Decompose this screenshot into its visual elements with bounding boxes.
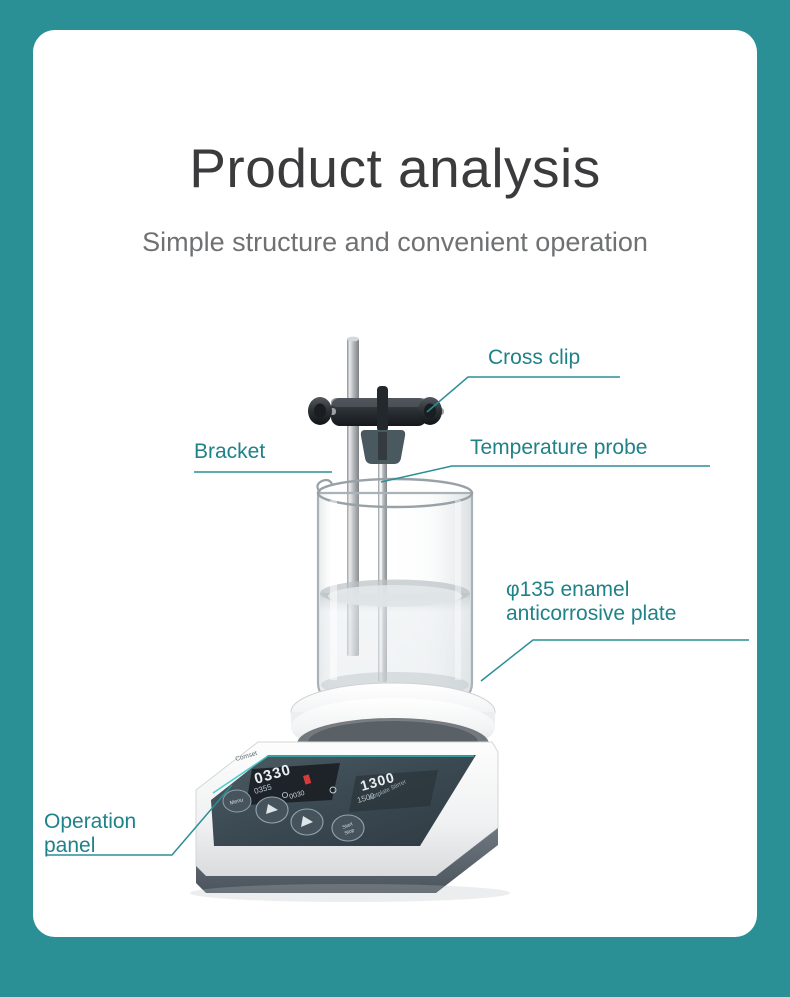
clip-left-knob [308, 397, 332, 425]
probe-top-post [377, 386, 388, 432]
glass-highlight-right [455, 500, 461, 680]
unit-shadow [190, 884, 510, 902]
callout-bracket: Bracket [194, 440, 265, 464]
callout-operation-panel: Operation panel [44, 810, 204, 858]
up-button[interactable] [256, 797, 288, 823]
stirrer-body: Comset Hotplate Stirrer 0330 0355 0030 1… [196, 742, 498, 893]
clip-right-knob [418, 397, 442, 425]
callout-cross-clip-label: Cross clip [488, 346, 580, 369]
callout-panel-line2: panel [44, 834, 204, 858]
callout-panel-line1: Operation [44, 810, 204, 834]
glass-beaker [317, 479, 472, 702]
start-stop-button[interactable]: Start Stop [332, 815, 364, 841]
menu-button[interactable]: Menu [223, 790, 251, 812]
cross-clip-assembly [308, 386, 444, 464]
rod-cap [347, 337, 359, 342]
callout-enamel-plate: φ135 enamel anticorrosive plate [506, 578, 756, 626]
water-surface-inner [328, 585, 462, 607]
probe-collar-slot [378, 432, 387, 460]
callout-bracket-label: Bracket [194, 440, 265, 463]
down-button[interactable] [291, 809, 323, 835]
callout-cross-clip: Cross clip [488, 346, 580, 370]
callout-plate-line1: φ135 enamel [506, 578, 756, 602]
callout-temperature-probe: Temperature probe [470, 436, 647, 460]
glass-highlight-left [330, 500, 337, 680]
callout-plate-line2: anticorrosive plate [506, 602, 756, 626]
callout-temperature-probe-label: Temperature probe [470, 436, 647, 459]
